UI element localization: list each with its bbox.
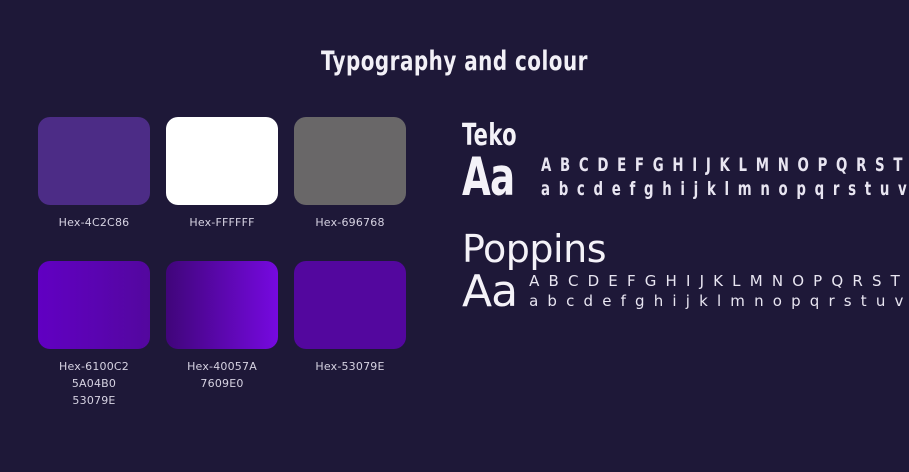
- colour-hex-label: Hex-6100C2 5A04B0 53079E: [59, 358, 129, 409]
- colour-chip[interactable]: [294, 261, 406, 349]
- colour-chip[interactable]: [166, 261, 278, 349]
- colour-swatch-cell[interactable]: Hex-696768: [294, 117, 406, 231]
- slide-canvas: Typography and colour Hex-4C2C86 Hex-FFF…: [0, 0, 909, 472]
- colour-chip[interactable]: [166, 117, 278, 205]
- alphabet-lowercase: a b c d e f g h i j k l m n o p q r s t …: [541, 178, 909, 200]
- colour-hex-label: Hex-696768: [315, 214, 384, 231]
- font-name-label: Poppins: [462, 227, 882, 271]
- colour-hex-label: Hex-FFFFFF: [189, 214, 254, 231]
- colour-swatch-cell[interactable]: Hex-FFFFFF: [166, 117, 278, 231]
- colour-palette-section: Hex-4C2C86 Hex-FFFFFF Hex-696768 Hex-610…: [38, 117, 408, 409]
- font-specimen-row: Aa A B C D E F G H I J K L M N O P Q R S…: [462, 271, 882, 313]
- colour-swatch-cell[interactable]: Hex-4C2C86: [38, 117, 150, 231]
- colour-chip[interactable]: [38, 117, 150, 205]
- typography-section: Teko Aa A B C D E F G H I J K L M N O P …: [462, 118, 882, 313]
- colour-chip[interactable]: [38, 261, 150, 349]
- colour-hex-label: Hex-53079E: [315, 358, 384, 375]
- alphabet-lowercase: a b c d e f g h i j k l m n o p q r s t …: [529, 292, 909, 310]
- font-sample-aa: Aa: [462, 153, 514, 203]
- colour-swatch-cell[interactable]: Hex-6100C2 5A04B0 53079E: [38, 261, 150, 409]
- alphabet-stack: A B C D E F G H I J K L M N O P Q R S T …: [541, 154, 909, 203]
- font-specimen-teko: Teko Aa A B C D E F G H I J K L M N O P …: [462, 118, 882, 203]
- palette-row-bottom: Hex-6100C2 5A04B0 53079E Hex-40057A 7609…: [38, 261, 408, 409]
- colour-chip[interactable]: [294, 117, 406, 205]
- font-specimen-poppins: Poppins Aa A B C D E F G H I J K L M N O…: [462, 227, 882, 313]
- page-title: Typography and colour: [82, 46, 827, 77]
- palette-row-top: Hex-4C2C86 Hex-FFFFFF Hex-696768: [38, 117, 408, 231]
- colour-hex-label: Hex-4C2C86: [59, 214, 130, 231]
- font-specimen-row: Aa A B C D E F G H I J K L M N O P Q R S…: [462, 153, 882, 203]
- alphabet-uppercase: A B C D E F G H I J K L M N O P Q R S T …: [529, 272, 909, 290]
- colour-swatch-cell[interactable]: Hex-53079E: [294, 261, 406, 409]
- colour-swatch-cell[interactable]: Hex-40057A 7609E0: [166, 261, 278, 409]
- alphabet-uppercase: A B C D E F G H I J K L M N O P Q R S T …: [541, 154, 909, 176]
- alphabet-stack: A B C D E F G H I J K L M N O P Q R S T …: [529, 272, 909, 313]
- colour-hex-label: Hex-40057A 7609E0: [187, 358, 257, 392]
- palette-row-spacer: [38, 231, 408, 261]
- font-sample-aa: Aa: [462, 271, 517, 313]
